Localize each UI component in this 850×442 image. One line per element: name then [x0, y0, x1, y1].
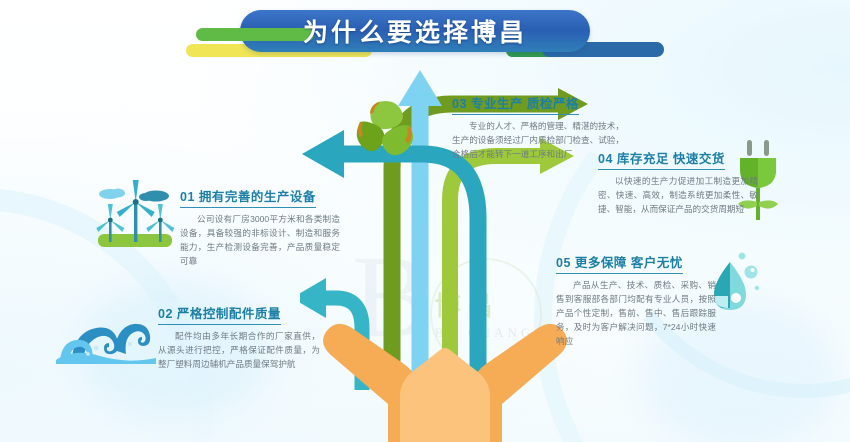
feature-heading-05: 05更多保障 客户无忧 — [556, 252, 683, 274]
feature-heading-02: 02严格控制配件质量 — [158, 303, 281, 325]
feature-number-05: 05 — [556, 256, 571, 270]
feature-title-02: 严格控制配件质量 — [177, 307, 281, 321]
header-banner: 为什么要选择博昌 — [196, 6, 600, 58]
feature-number-04: 04 — [598, 152, 613, 166]
feature-title-03: 专业生产 质检严格 — [471, 97, 579, 111]
feature-block-01: 01拥有完善的生产设备 公司设有厂房3000平方米和各类制造设备，具备较强的非标… — [180, 186, 340, 269]
feature-number-03: 03 — [452, 97, 467, 111]
feature-heading-01: 01拥有完善的生产设备 — [180, 186, 316, 208]
feature-block-05: 05更多保障 客户无忧 产品从生产、技术、质检、采购、销售到客服部各部门均配有专… — [556, 252, 716, 349]
feature-heading-03: 03专业生产 质检严格 — [452, 93, 579, 115]
feature-body-02: 配件均由多年长期合作的厂家直供，从源头进行把控，严格保证配件质量，为整厂塑料周边… — [158, 330, 320, 372]
feature-block-02: 02严格控制配件质量 配件均由多年长期合作的厂家直供，从源头进行把控，严格保证配… — [158, 303, 320, 372]
infographic-canvas: 为什么要选择博昌 B 博昌 BO CHANG — [0, 0, 850, 442]
ocean-wave-icon — [56, 298, 156, 364]
wind-turbine-icon — [88, 172, 180, 258]
recycle-leaf-icon — [348, 96, 420, 174]
feature-number-01: 01 — [180, 190, 195, 204]
feature-title-04: 库存充足 快速交货 — [617, 152, 725, 166]
feature-body-04: 以快速的生产力促进加工制造更加精密、快速、高效，制造系统更加柔性、敏捷、智能，从… — [598, 175, 758, 217]
feature-title-05: 更多保障 客户无忧 — [575, 256, 683, 270]
feature-title-01: 拥有完善的生产设备 — [199, 190, 316, 204]
feature-block-04: 04库存充足 快速交货 以快速的生产力促进加工制造更加精密、快速、高效，制造系统… — [598, 148, 758, 217]
feature-body-05: 产品从生产、技术、质检、采购、销售到客服部各部门均配有专业人员，按照产品个性定制… — [556, 279, 716, 349]
feature-heading-04: 04库存充足 快速交货 — [598, 148, 725, 170]
feature-number-02: 02 — [158, 307, 173, 321]
page-title: 为什么要选择博昌 — [240, 10, 590, 52]
feature-body-01: 公司设有厂房3000平方米和各类制造设备，具备较强的非标设计、制造和服务能力，生… — [180, 213, 340, 269]
